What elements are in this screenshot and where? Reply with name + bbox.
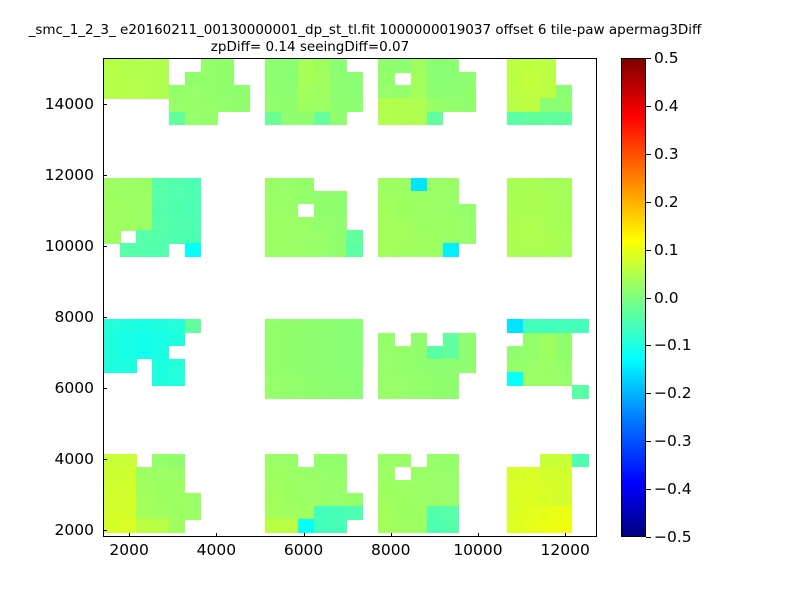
heatmap-cell [330,98,347,112]
heatmap-cell [185,230,202,244]
heatmap-cell [265,319,282,333]
heatmap-cell [152,493,169,507]
heatmap-cell [378,454,395,468]
heatmap-cell [411,372,428,386]
heatmap-cell [378,112,395,126]
heatmap-cell [314,359,331,373]
heatmap-cell [346,98,363,112]
heatmap-cell [169,506,186,520]
heatmap-cell [378,493,395,507]
heatmap-cell [298,506,315,520]
heatmap-cell [378,467,395,481]
heatmap-cell [540,372,557,386]
heatmap-cell [152,230,169,244]
heatmap-cell [540,519,557,533]
heatmap-cell [265,243,282,257]
heatmap-cell [427,191,444,205]
heatmap-cell [298,333,315,347]
heatmap-cell [169,493,186,507]
heatmap-cell [330,204,347,218]
heatmap-cell [459,217,476,231]
heatmap-cell [314,59,331,73]
heatmap-cell [540,359,557,373]
heatmap-cell [378,85,395,99]
heatmap-cell [330,59,347,73]
heatmap-cell [523,319,540,333]
heatmap-cell [330,359,347,373]
heatmap-cell [556,333,573,347]
x-tick-mark [216,533,217,537]
heatmap-cell [443,346,460,360]
heatmap-cell [540,72,557,86]
heatmap-cell [443,59,460,73]
heatmap-cell [394,59,411,73]
heatmap-cell [314,519,331,533]
heatmap-cell [169,480,186,494]
heatmap-cell [556,346,573,360]
heatmap-cell [265,98,282,112]
y-tick-mark [103,459,107,460]
heatmap-cell [411,346,428,360]
colorbar-gradient [621,58,646,537]
heatmap-cell [507,346,524,360]
heatmap-cell [104,506,121,520]
heatmap-cell [378,243,395,257]
heatmap-cell [523,333,540,347]
y-tick-label: 10000 [18,237,94,255]
colorbar-tick-mark [646,537,651,538]
heatmap-cell [281,346,298,360]
heatmap-cell [136,230,153,244]
heatmap-cell [394,243,411,257]
heatmap-cell [314,506,331,520]
heatmap-cell [346,333,363,347]
heatmap-cell [314,230,331,244]
heatmap-cell [185,112,202,126]
colorbar-tick-label: 0.2 [654,193,679,211]
heatmap-cell [281,519,298,533]
heatmap-cell [378,204,395,218]
heatmap-cell [459,98,476,112]
heatmap-cell [136,59,153,73]
colorbar-tick-label: −0.4 [654,480,692,498]
heatmap-cell [443,230,460,244]
heatmap-cell [394,493,411,507]
heatmap-cell [540,243,557,257]
heatmap-cell [265,85,282,99]
heatmap-cell [459,346,476,360]
heatmap-cell [120,319,137,333]
heatmap-cell [556,467,573,481]
heatmap-cell [330,112,347,126]
heatmap-cell [427,98,444,112]
heatmap-cell [556,112,573,126]
heatmap-cell [507,59,524,73]
heatmap-cell [507,359,524,373]
heatmap-cell [314,112,331,126]
heatmap-cell [265,454,282,468]
heatmap-cell [281,467,298,481]
heatmap-cell [265,191,282,205]
heatmap-cell [104,359,121,373]
heatmap-cell [540,178,557,192]
heatmap-cell [314,85,331,99]
x-tick-mark [391,533,392,537]
heatmap-cell [298,59,315,73]
heatmap-cell [314,98,331,112]
heatmap-cell [378,372,395,386]
heatmap-cell [411,191,428,205]
heatmap-cell [120,346,137,360]
y-tick-label: 2000 [18,521,94,539]
heatmap-cell [411,204,428,218]
heatmap-cell [427,112,444,126]
heatmap-cell [152,346,169,360]
x-tick-label: 4000 [197,541,236,559]
heatmap-cell [556,217,573,231]
heatmap-cell [427,178,444,192]
heatmap-cell [314,243,331,257]
heatmap-cell [281,204,298,218]
heatmap-cell [104,493,121,507]
heatmap-cell [314,72,331,86]
y-tick-mark [103,388,107,389]
heatmap-cell [346,319,363,333]
heatmap-cell [314,385,331,399]
heatmap-cell [443,506,460,520]
heatmap-cell [136,467,153,481]
heatmap-cell [411,72,428,86]
heatmap-cell [540,98,557,112]
heatmap-cell [136,217,153,231]
colorbar-tick-mark [646,298,651,299]
heatmap-cell [427,454,444,468]
heatmap-cell [394,346,411,360]
heatmap-cell [136,85,153,99]
heatmap-cell [427,372,444,386]
heatmap-cell [394,506,411,520]
heatmap-cell [507,467,524,481]
heatmap-cell [120,333,137,347]
heatmap-cell [427,506,444,520]
heatmap-cell [120,506,137,520]
heatmap-cell [540,217,557,231]
heatmap-cell [298,230,315,244]
heatmap-cell [298,480,315,494]
heatmap-cell [169,112,186,126]
heatmap-cell [136,519,153,533]
heatmap-cell [185,85,202,99]
heatmap-cell [330,519,347,533]
heatmap-cell [507,72,524,86]
colorbar-tick-label: 0.0 [654,289,679,307]
heatmap-cell [298,372,315,386]
heatmap-cell [394,480,411,494]
heatmap-cell [136,333,153,347]
heatmap-cells [104,59,596,536]
heatmap-cell [378,230,395,244]
heatmap-cell [265,59,282,73]
heatmap-cell [152,359,169,373]
heatmap-cell [104,72,121,86]
heatmap-cell [394,385,411,399]
heatmap-cell [265,178,282,192]
heatmap-cell [298,346,315,360]
heatmap-cell [330,506,347,520]
heatmap-cell [523,59,540,73]
colorbar-tick-label: −0.5 [654,528,692,546]
y-tick-label: 14000 [18,95,94,113]
colorbar-tick-label: 0.3 [654,145,679,163]
heatmap-cell [298,385,315,399]
heatmap-cell [411,230,428,244]
heatmap-cell [427,480,444,494]
x-tick-mark [565,533,566,537]
heatmap-cell [314,333,331,347]
heatmap-cell [152,454,169,468]
heatmap-cell [330,191,347,205]
heatmap-cell [314,454,331,468]
heatmap-cell [281,319,298,333]
heatmap-cell [104,333,121,347]
heatmap-cell [523,372,540,386]
heatmap-cell [265,72,282,86]
heatmap-cell [540,230,557,244]
heatmap-cell [298,178,315,192]
heatmap-cell [281,480,298,494]
heatmap-cell [136,319,153,333]
heatmap-cell [169,204,186,218]
heatmap-cell [540,506,557,520]
heatmap-cell [378,346,395,360]
heatmap-cell [411,480,428,494]
heatmap-cell [427,493,444,507]
colorbar-tick-mark [646,441,651,442]
heatmap-cell [136,204,153,218]
heatmap-cell [507,191,524,205]
heatmap-cell [443,454,460,468]
heatmap-cell [136,506,153,520]
heatmap-cell [120,480,137,494]
x-tick-label: 12000 [541,541,590,559]
heatmap-cell [443,178,460,192]
heatmap-cell [120,85,137,99]
heatmap-cell [443,98,460,112]
heatmap-cell [443,72,460,86]
heatmap-cell [201,59,218,73]
heatmap-cell [169,217,186,231]
heatmap-cell [281,178,298,192]
heatmap-cell [152,519,169,533]
heatmap-cell [330,372,347,386]
heatmap-cell [427,385,444,399]
heatmap-cell [443,333,460,347]
heatmap-cell [378,59,395,73]
heatmap-cell [540,346,557,360]
heatmap-cell [556,319,573,333]
heatmap-cell [104,85,121,99]
heatmap-cell [265,493,282,507]
heatmap-cell [298,112,315,126]
heatmap-cell [411,243,428,257]
heatmap-cell [443,359,460,373]
heatmap-cell [265,372,282,386]
heatmap-cell [217,59,234,73]
heatmap-cell [443,480,460,494]
heatmap-cell [459,333,476,347]
colorbar-tick-label: −0.1 [654,336,692,354]
heatmap-cell [169,85,186,99]
heatmap-cell [152,319,169,333]
heatmap-cell [104,319,121,333]
heatmap-cell [169,319,186,333]
heatmap-cell [411,85,428,99]
heatmap-cell [314,204,331,218]
heatmap-cell [265,359,282,373]
heatmap-cell [507,319,524,333]
heatmap-cell [378,72,395,86]
heatmap-cell [136,480,153,494]
colorbar-tick-label: 0.5 [654,49,679,67]
heatmap-cell [523,506,540,520]
heatmap-cell [394,217,411,231]
heatmap-cell [443,191,460,205]
heatmap-cell [394,191,411,205]
heatmap-cell [265,480,282,494]
heatmap-cell [523,519,540,533]
heatmap-cell [169,372,186,386]
y-tick-label: 4000 [18,450,94,468]
heatmap-cell [281,333,298,347]
heatmap-cell [169,98,186,112]
heatmap-cell [346,359,363,373]
heatmap-cell [459,204,476,218]
heatmap-cell [152,191,169,205]
heatmap-cell [265,217,282,231]
heatmap-cell [411,333,428,347]
heatmap-cell [427,519,444,533]
heatmap-cell [169,359,186,373]
colorbar-tick-mark [646,58,651,59]
heatmap-cell [540,319,557,333]
heatmap-cell [281,372,298,386]
heatmap-cell [507,112,524,126]
heatmap-cell [185,98,202,112]
heatmap-cell [523,493,540,507]
heatmap-cell [346,72,363,86]
heatmap-cell [411,98,428,112]
heatmap-cell [330,480,347,494]
heatmap-cell [185,506,202,520]
heatmap-cell [281,243,298,257]
heatmap-cell [314,467,331,481]
heatmap-cell [104,204,121,218]
heatmap-cell [185,493,202,507]
heatmap-cell [459,359,476,373]
heatmap-cell [152,85,169,99]
heatmap-cell [394,230,411,244]
heatmap-cell [411,359,428,373]
heatmap-cell [572,385,589,399]
y-tick-mark [103,530,107,531]
heatmap-cell [185,217,202,231]
heatmap-cell [523,230,540,244]
heatmap-cell [120,467,137,481]
heatmap-cell [443,85,460,99]
heatmap-cell [169,467,186,481]
heatmap-cell [394,519,411,533]
x-tick-label: 6000 [284,541,323,559]
heatmap-cell [427,359,444,373]
heatmap-cell [120,59,137,73]
heatmap-cell [314,346,331,360]
heatmap-cell [523,359,540,373]
heatmap-cell [411,493,428,507]
heatmap-cell [120,243,137,257]
heatmap-cell [556,506,573,520]
heatmap-cell [556,372,573,386]
heatmap-cell [411,519,428,533]
heatmap-cell [507,204,524,218]
heatmap-cell [330,385,347,399]
heatmap-cell [265,230,282,244]
heatmap-cell [427,85,444,99]
heatmap-cell [330,493,347,507]
heatmap-cell [523,191,540,205]
heatmap-cell [104,178,121,192]
heatmap-cell [346,85,363,99]
heatmap-cell [523,98,540,112]
heatmap-cell [330,454,347,468]
heatmap-cell [152,217,169,231]
heatmap-cell [378,359,395,373]
y-tick-label: 12000 [18,166,94,184]
heatmap-cell [281,230,298,244]
colorbar-tick-mark [646,106,651,107]
heatmap-cell [459,72,476,86]
figure-title: _smc_1_2_3_ e20160211_00130000001_dp_st_… [0,22,730,38]
heatmap-cell [265,385,282,399]
heatmap-cell [540,467,557,481]
heatmap-cell [298,319,315,333]
x-tick-label: 2000 [109,541,148,559]
heatmap-cell [169,519,186,533]
heatmap-cell [346,230,363,244]
heatmap-cell [394,85,411,99]
heatmap-cell [233,85,250,99]
heatmap-cell [120,72,137,86]
heatmap-cell [104,454,121,468]
heatmap-cell [394,359,411,373]
heatmap-cell [136,178,153,192]
heatmap-cell [507,178,524,192]
x-tick-mark [478,533,479,537]
heatmap-cell [314,319,331,333]
heatmap-cell [298,98,315,112]
y-tick-label: 8000 [18,308,94,326]
heatmap-cell [523,217,540,231]
heatmap-cell [394,372,411,386]
heatmap-cell [378,217,395,231]
heatmap-cell [169,454,186,468]
heatmap-cell [394,98,411,112]
heatmap-cell [330,346,347,360]
heatmap-cell [169,178,186,192]
heatmap-cell [217,98,234,112]
heatmap-cell [540,333,557,347]
heatmap-cell [427,217,444,231]
heatmap-cell [507,243,524,257]
